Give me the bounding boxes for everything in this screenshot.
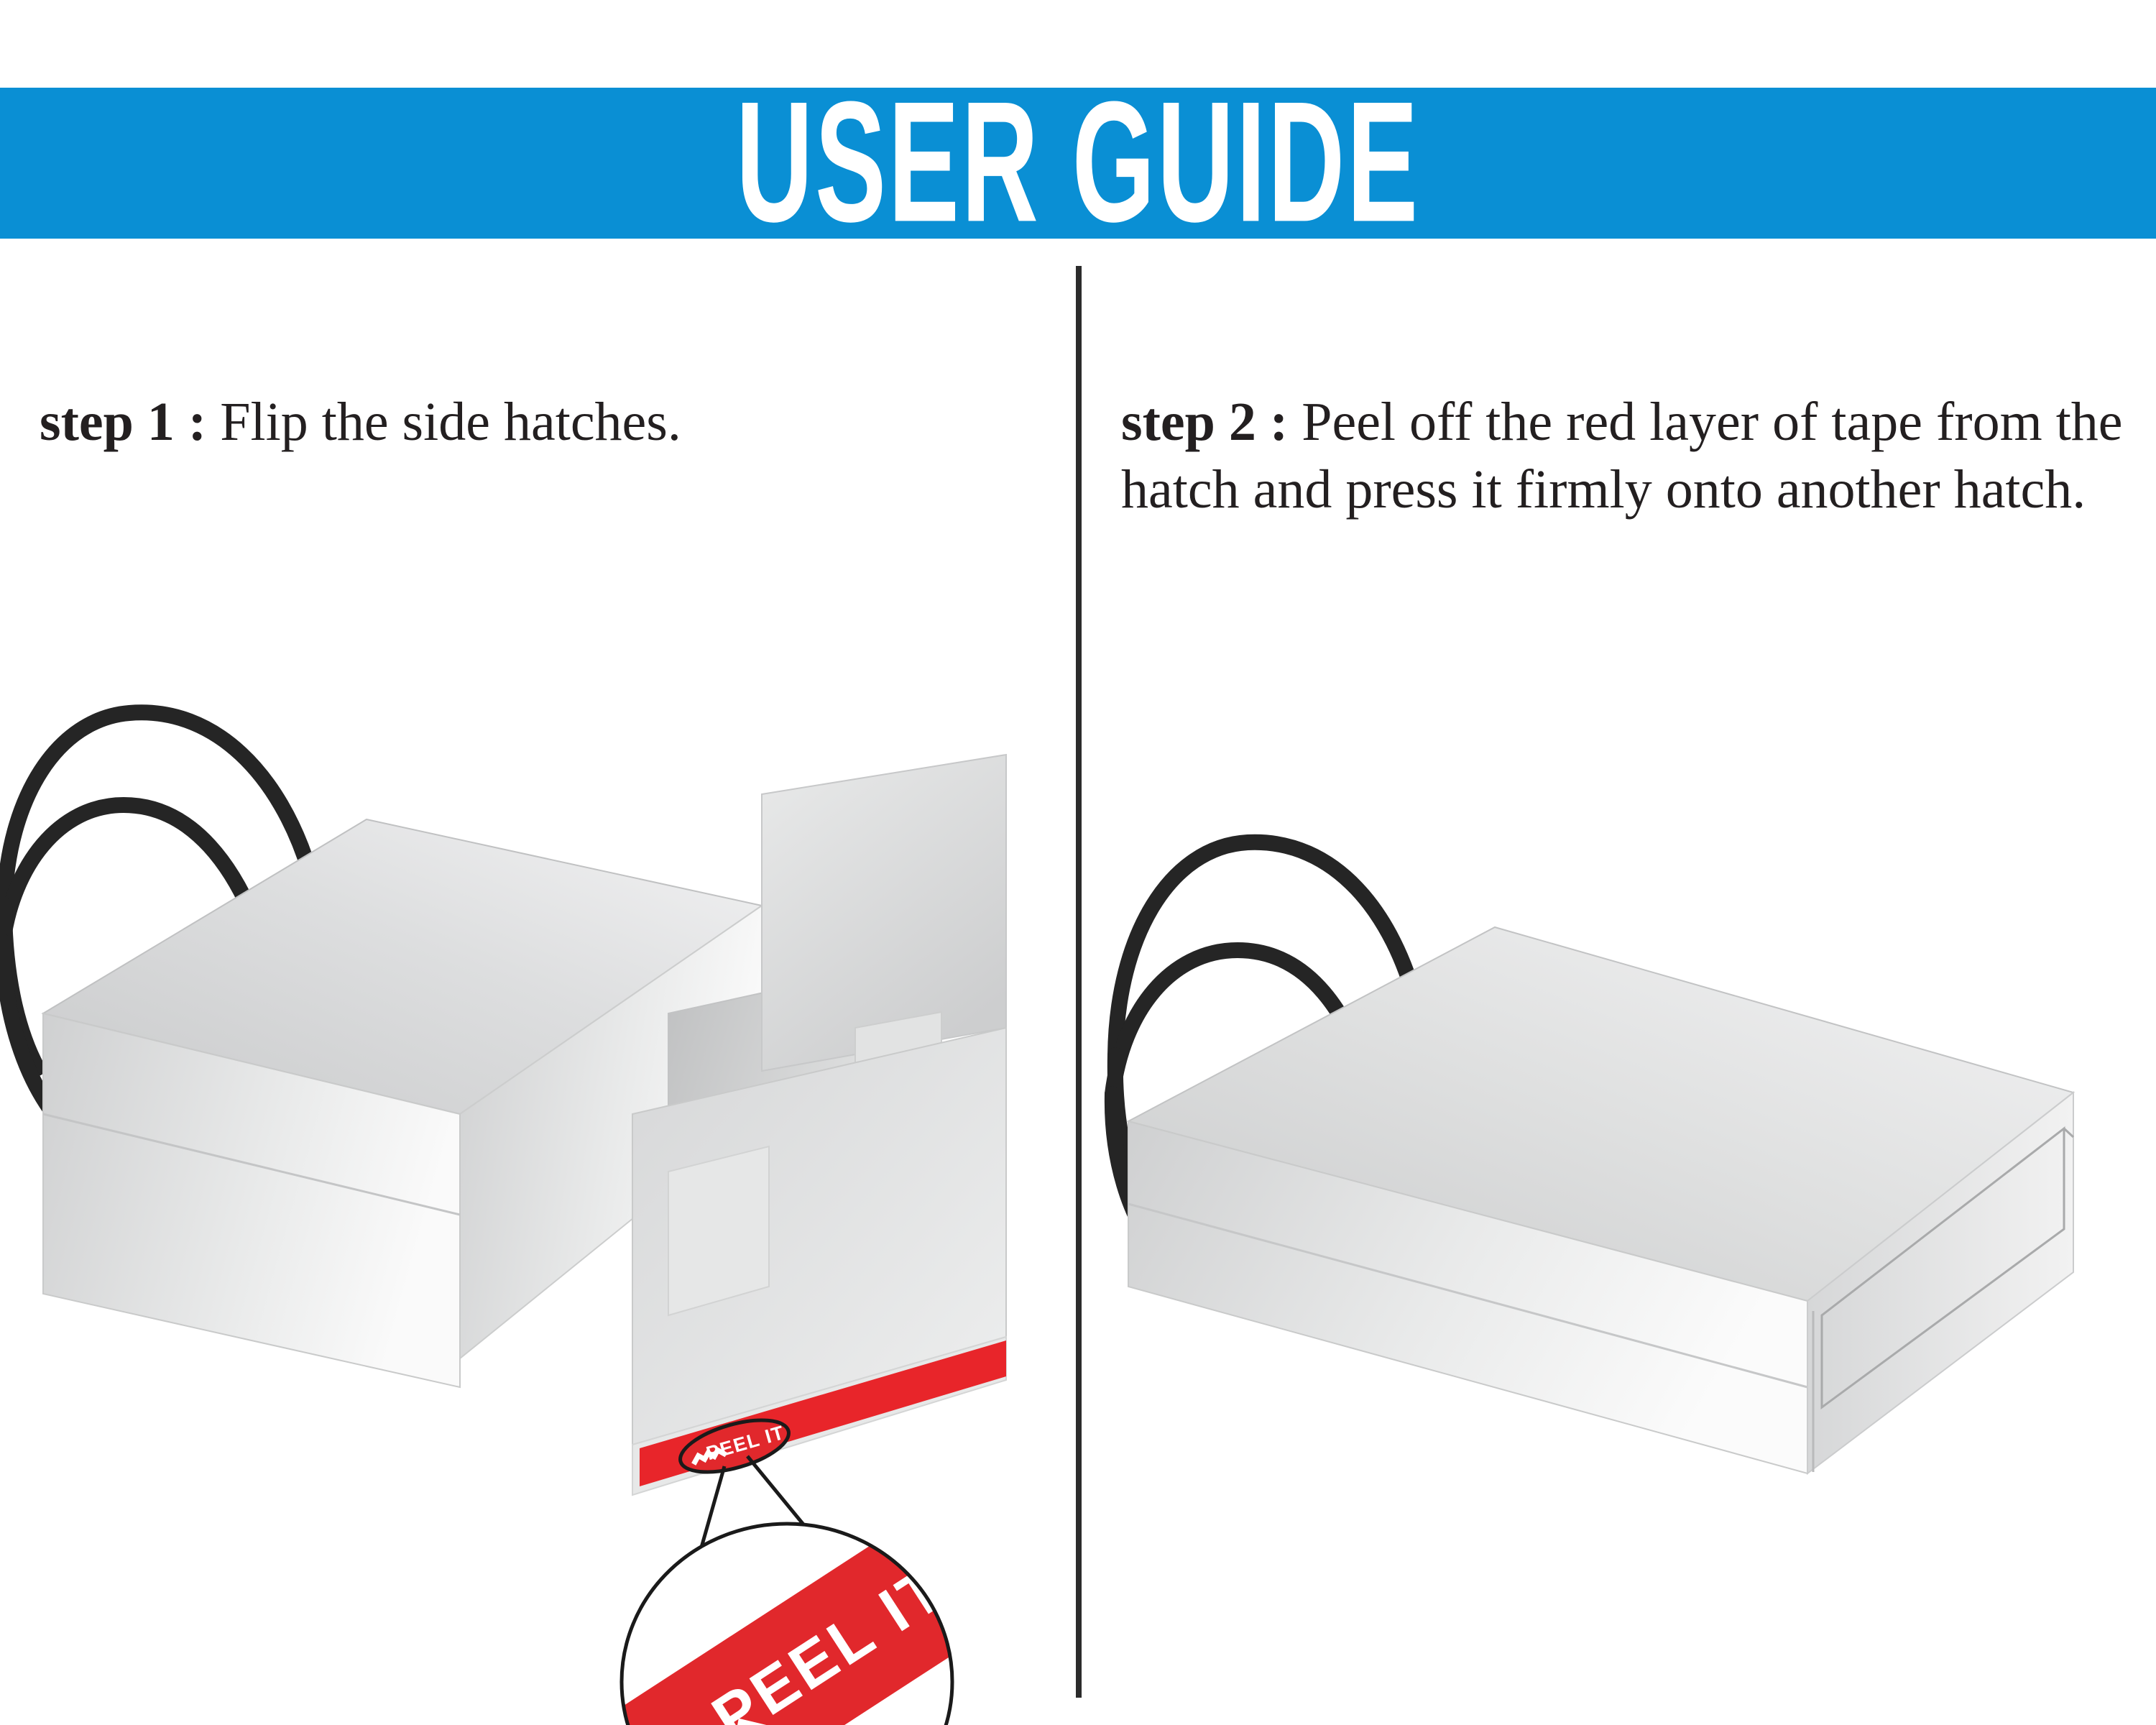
hatch-tuck-tab-lower: [668, 1146, 769, 1315]
header-banner: USER GUIDE: [0, 88, 2156, 239]
step-1-illustration: PEEL IT PEEL IT: [0, 668, 1042, 1703]
step-1-label: step 1 :: [40, 392, 206, 452]
step-1-instruction: step 1 : Flip the side hatches.: [40, 388, 1017, 456]
step-2-illustration: [1107, 812, 2156, 1531]
step-1-body: Flip the side hatches.: [206, 392, 681, 452]
column-divider: [1076, 266, 1082, 1698]
peel-it-magnifier-callout: PEEL IT: [550, 1495, 1023, 1725]
step-2-instruction: step 2 : Peel off the red layer of tape …: [1121, 388, 2149, 523]
step-2-label: step 2 :: [1121, 392, 1288, 452]
page-title: USER GUIDE: [736, 76, 1420, 248]
